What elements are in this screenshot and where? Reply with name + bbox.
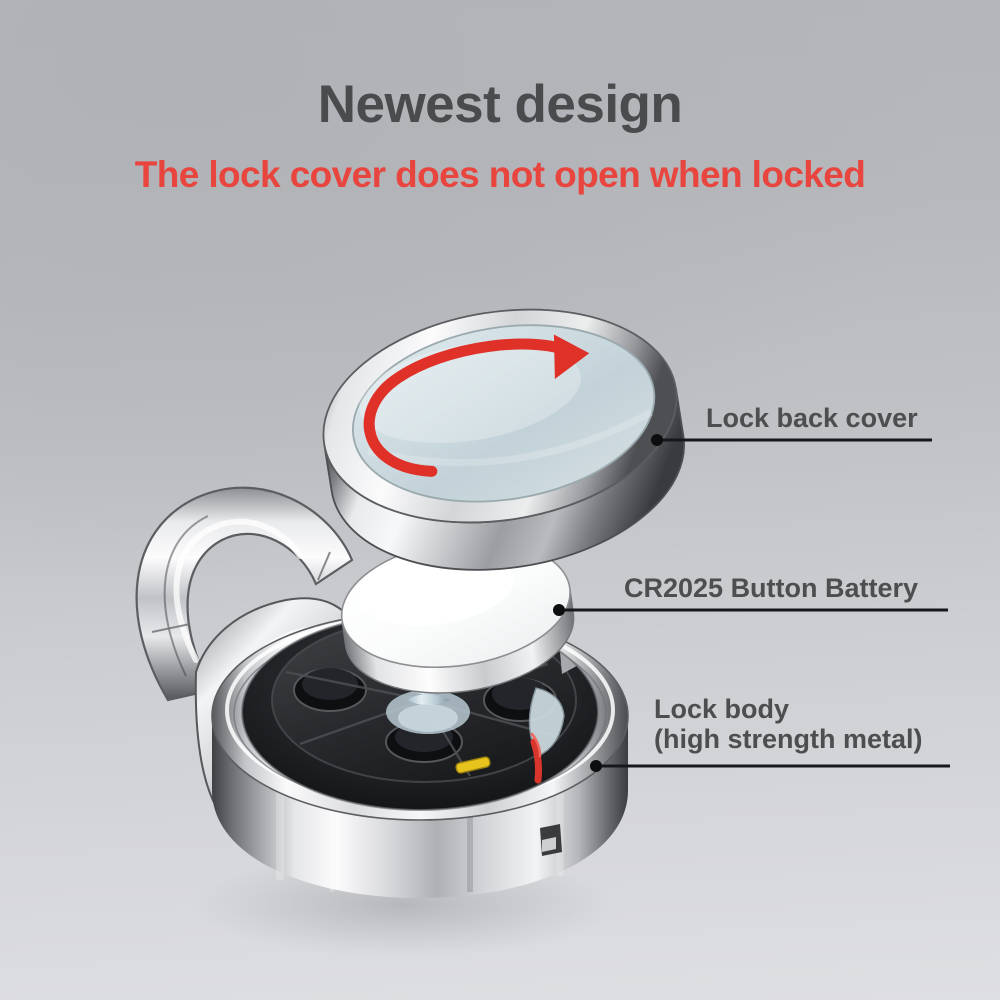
callout-label-lock-body: Lock body (high strength metal) — [654, 694, 923, 754]
callout-label-lock-body-line2: (high strength metal) — [654, 724, 923, 754]
page-subtitle: The lock cover does not open when locked — [0, 156, 1000, 193]
callout-label-lock-back-cover: Lock back cover — [706, 403, 918, 433]
callout-label-button-battery: CR2025 Button Battery — [624, 573, 918, 603]
lock-back-cover — [308, 285, 700, 594]
product-infographic: Newest design The lock cover does not op… — [0, 0, 1000, 1000]
page-title: Newest design — [0, 78, 1000, 131]
callout-label-lock-body-line1: Lock body — [654, 694, 923, 724]
padlock-exploded-illustration — [0, 0, 1000, 1000]
